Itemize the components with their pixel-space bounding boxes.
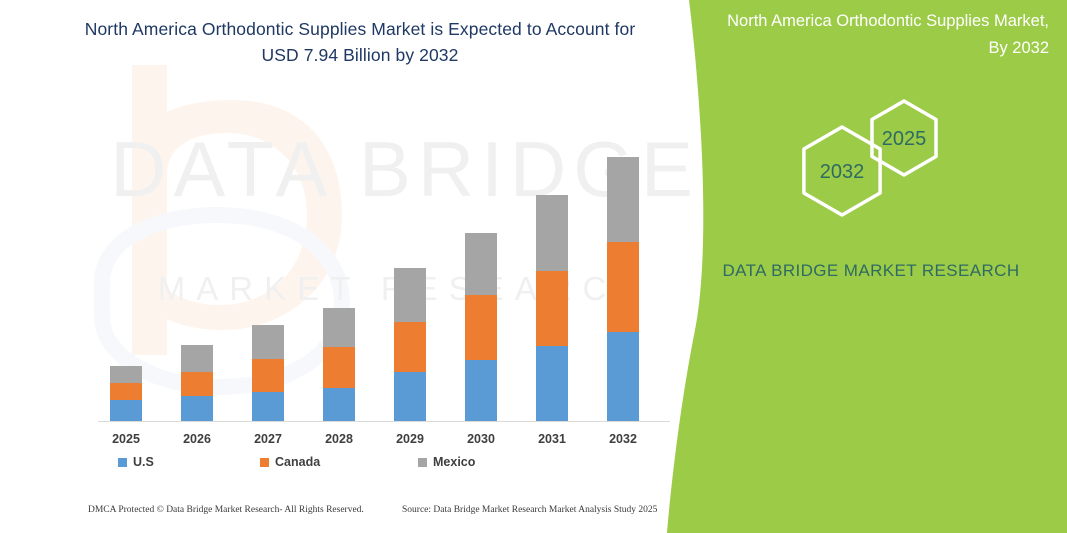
bar-segment-us (607, 332, 639, 421)
x-axis-label: 2026 (167, 432, 227, 446)
bar-segment-canada (323, 347, 355, 388)
bar-segment-us (536, 346, 568, 421)
bar-segment-us (465, 360, 497, 421)
legend-swatch-icon (260, 458, 269, 467)
bar-segment-us (252, 392, 284, 421)
chart-title: North America Orthodontic Supplies Marke… (80, 16, 640, 68)
legend-item[interactable]: Canada (260, 455, 320, 469)
bar-segment-mexico (607, 157, 639, 242)
x-axis-label: 2027 (238, 432, 298, 446)
bar-segment-mexico (252, 325, 284, 359)
bar-segment-canada (536, 271, 568, 346)
bar-segment-mexico (394, 268, 426, 322)
x-axis-label: 2028 (309, 432, 369, 446)
bar-segment-canada (465, 295, 497, 360)
bar-segment-us (181, 396, 213, 421)
right-panel-brand: DATA BRIDGE MARKET RESEARCH (721, 258, 1021, 284)
green-side-panel: North America Orthodontic Supplies Marke… (667, 0, 1067, 533)
bar-segment-mexico (181, 345, 213, 372)
plot-area (80, 120, 670, 422)
bar-group (110, 366, 142, 421)
bar-segment-us (323, 388, 355, 421)
bar-segment-canada (394, 322, 426, 372)
x-axis-label: 2025 (96, 432, 156, 446)
bar-group (181, 345, 213, 421)
bar-group (607, 157, 639, 421)
footer-source: Source: Data Bridge Market Research Mark… (402, 505, 657, 515)
chart-panel: DATA BRIDGE MARKET RESEARCH North Americ… (0, 0, 740, 533)
bar-segment-canada (252, 359, 284, 392)
bar-group (252, 325, 284, 421)
bar-group (323, 308, 355, 421)
footer: DMCA Protected © Data Bridge Market Rese… (0, 505, 700, 529)
bar-group (394, 268, 426, 421)
bar-segment-canada (110, 383, 142, 400)
x-axis-label: 2029 (380, 432, 440, 446)
x-axis-line (98, 421, 670, 422)
x-axis-labels: 20252026202720282029203020312032 (80, 432, 670, 452)
bar-segment-us (110, 400, 142, 421)
bar-segment-us (394, 372, 426, 421)
x-axis-label: 2030 (451, 432, 511, 446)
legend-swatch-icon (418, 458, 427, 467)
chart-legend: U.SCanadaMexico (80, 455, 670, 477)
bar-group (465, 233, 497, 421)
bar-segment-mexico (110, 366, 142, 383)
x-axis-label: 2031 (522, 432, 582, 446)
legend-swatch-icon (118, 458, 127, 467)
bar-segment-mexico (465, 233, 497, 296)
bar-segment-mexico (323, 308, 355, 347)
bar-segment-canada (607, 242, 639, 332)
hexagon-label: 2025 (882, 128, 927, 150)
bar-segment-canada (181, 372, 213, 396)
infographic-root: DATA BRIDGE MARKET RESEARCH North Americ… (0, 0, 1067, 533)
bar-group (536, 195, 568, 421)
legend-label: Canada (275, 455, 320, 469)
hexagon-label: 2032 (820, 161, 865, 183)
legend-label: Mexico (433, 455, 475, 469)
legend-label: U.S (133, 455, 154, 469)
bar-segment-mexico (536, 195, 568, 271)
footer-copyright: DMCA Protected © Data Bridge Market Rese… (88, 505, 364, 515)
x-axis-label: 2032 (593, 432, 653, 446)
legend-item[interactable]: U.S (118, 455, 154, 469)
legend-item[interactable]: Mexico (418, 455, 475, 469)
